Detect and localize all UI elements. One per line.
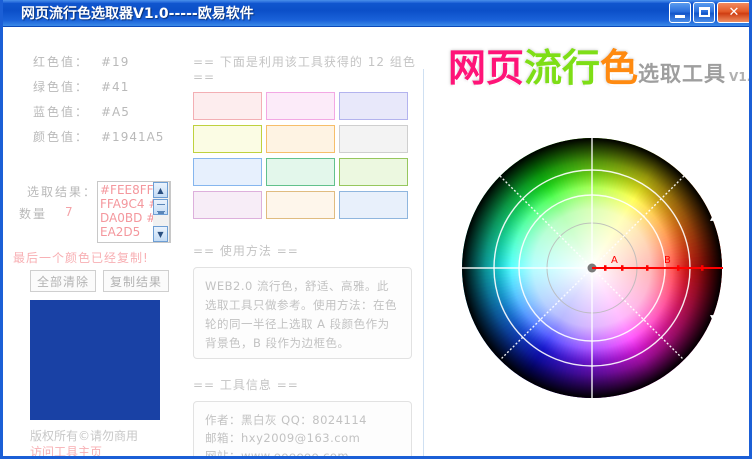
green-value-label: 绿色值：	[11, 78, 89, 95]
logo-version: V1.0	[729, 70, 752, 84]
toolinfo-author: 作者：黑白灰 QQ：8024114	[205, 411, 400, 429]
wheel-marker-a[interactable]: A	[611, 255, 618, 266]
window-controls: ✕	[669, 2, 751, 23]
palette-swatch-6[interactable]	[339, 125, 408, 153]
scroll-up-icon[interactable]: ▲	[153, 182, 168, 198]
hex-value-row: 颜色值： #1941A5	[11, 128, 186, 153]
palette-swatch-3[interactable]	[339, 92, 408, 120]
toolinfo-section: == 工具信息 == 作者：黑白灰 QQ：8024114 邮箱：hxy2009@…	[193, 376, 412, 459]
palette-swatch-7[interactable]	[193, 158, 262, 186]
right-column: 网页流行色选取工具V1.0	[428, 27, 749, 456]
logo-part-3: 色	[600, 46, 638, 90]
logo-part-4: 选取工具	[638, 62, 726, 86]
list-scrollbar[interactable]: ▲ ▼	[153, 181, 170, 243]
usage-text-box: WEB2.0 流行色，舒适、高雅。此选取工具只做参考。使用方法：在色轮的同一半径…	[193, 267, 412, 359]
usage-heading: == 使用方法 ==	[193, 242, 412, 259]
toolinfo-box: 作者：黑白灰 QQ：8024114 邮箱：hxy2009@163.com 网站：…	[193, 401, 412, 459]
copyright-text: 版权所有©请勿商用	[30, 427, 138, 444]
toolinfo-email: 邮箱：hxy2009@163.com	[205, 429, 400, 447]
hex-value-label: 颜色值：	[11, 128, 89, 145]
logo-part-2: 流行	[524, 46, 600, 90]
blue-value: #A5	[101, 105, 130, 119]
logo-part-1: 网页	[448, 46, 524, 90]
maximize-button[interactable]	[693, 2, 715, 23]
app-logo: 网页流行色选取工具V1.0	[448, 49, 752, 87]
red-value-row: 红色值： #19	[11, 53, 186, 78]
homepage-link[interactable]: 访问工具主页	[30, 443, 102, 459]
scrollbar-thumb[interactable]	[153, 199, 168, 215]
color-preview-swatch[interactable]	[30, 300, 160, 420]
color-wheel-area[interactable]: A B	[461, 137, 751, 427]
window-title: 网页流行色选取器V1.0-----欧易软件	[21, 3, 254, 23]
usage-section: == 使用方法 == WEB2.0 流行色，舒适、高雅。此选取工具只做参考。使用…	[193, 242, 412, 359]
palette-swatch-8[interactable]	[266, 158, 335, 186]
palette-swatch-12[interactable]	[339, 191, 408, 219]
palette-grid	[193, 92, 418, 219]
column-divider	[423, 69, 424, 459]
red-value: #19	[101, 55, 129, 69]
usage-text: WEB2.0 流行色，舒适、高雅。此选取工具只做参考。使用方法：在色轮的同一半径…	[205, 279, 397, 350]
hex-value: #1941A5	[101, 130, 164, 144]
palette-swatch-11[interactable]	[266, 191, 335, 219]
color-wheel[interactable]: A B	[461, 137, 723, 399]
copy-status-message: 最后一个颜色已经复制!	[13, 249, 149, 266]
action-buttons: 全部清除 复制结果	[30, 270, 169, 292]
toolinfo-website: 网站：www.ooeeoo.com	[205, 447, 400, 459]
minimize-button[interactable]	[669, 2, 691, 23]
palette-section: == 下面是利用该工具获得的 12 组色 ==	[193, 53, 418, 219]
maximize-icon	[699, 7, 710, 17]
window-body: 红色值： #19 绿色值： #41 蓝色值： #A5 颜色值： #1941A5 …	[3, 27, 749, 456]
title-bar[interactable]: 网页流行色选取器V1.0-----欧易软件 ✕	[3, 0, 752, 27]
green-value-row: 绿色值： #41	[11, 78, 186, 103]
color-values-panel: 红色值： #19 绿色值： #41 蓝色值： #A5 颜色值： #1941A5	[11, 53, 186, 153]
blue-value-label: 蓝色值：	[11, 103, 89, 120]
close-icon: ✕	[718, 3, 750, 22]
palette-swatch-9[interactable]	[339, 158, 408, 186]
selection-result-label: 选取结果：	[19, 183, 97, 200]
copy-result-button[interactable]: 复制结果	[103, 270, 169, 292]
application-window: 网页流行色选取器V1.0-----欧易软件 ✕ 红色值： #19 绿色值： #4…	[0, 0, 752, 459]
wheel-marker-b[interactable]: B	[664, 255, 671, 266]
count-label: 数量	[19, 205, 97, 222]
red-value-label: 红色值：	[11, 53, 89, 70]
toolinfo-heading: == 工具信息 ==	[193, 376, 412, 393]
green-value: #41	[101, 80, 129, 94]
palette-swatch-5[interactable]	[266, 125, 335, 153]
blue-value-row: 蓝色值： #A5	[11, 103, 186, 128]
scroll-down-icon[interactable]: ▼	[153, 226, 168, 242]
close-button[interactable]: ✕	[717, 2, 751, 23]
minimize-icon	[675, 15, 685, 18]
palette-swatch-4[interactable]	[193, 125, 262, 153]
clear-all-button[interactable]: 全部清除	[30, 270, 96, 292]
palette-swatch-2[interactable]	[266, 92, 335, 120]
count-value: 7	[65, 205, 73, 219]
palette-heading: == 下面是利用该工具获得的 12 组色 ==	[193, 53, 418, 84]
palette-swatch-1[interactable]	[193, 92, 262, 120]
palette-swatch-10[interactable]	[193, 191, 262, 219]
